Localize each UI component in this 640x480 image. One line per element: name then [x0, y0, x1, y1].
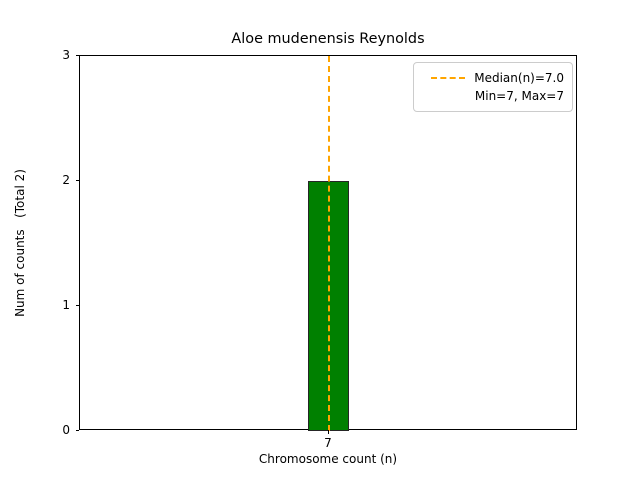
ytick-mark-0: [76, 430, 80, 431]
ytick-mark-1: [76, 305, 80, 306]
y-axis-label: Num of counts (Total 2): [13, 169, 27, 317]
x-axis-label: Chromosome count (n): [79, 452, 577, 466]
ytick-mark-2: [76, 180, 80, 181]
ytick-label-1: 1: [45, 299, 70, 311]
ytick-label-3: 3: [45, 49, 70, 61]
median-line: [328, 56, 330, 431]
legend-label-minmax: Min=7, Max=7: [475, 89, 564, 103]
legend-dashed-line-icon: [431, 77, 465, 79]
legend-item-minmax: Min=7, Max=7: [422, 87, 564, 105]
legend-label-median: Median(n)=7.0: [474, 71, 564, 85]
chart-title: Aloe mudenensis Reynolds: [79, 30, 577, 48]
chart-figure: Aloe mudenensis Reynolds 0 1 2 3 7 Chrom…: [0, 0, 640, 480]
xtick-mark-7: [328, 430, 329, 434]
ytick-label-0: 0: [45, 424, 70, 436]
xtick-label-7: 7: [308, 436, 348, 450]
legend: Median(n)=7.0 Min=7, Max=7: [413, 62, 573, 112]
ytick-mark-3: [76, 55, 80, 56]
ytick-label-2: 2: [45, 174, 70, 186]
legend-item-median: Median(n)=7.0: [422, 69, 564, 87]
y-axis-label-container: Num of counts (Total 2): [0, 55, 40, 430]
